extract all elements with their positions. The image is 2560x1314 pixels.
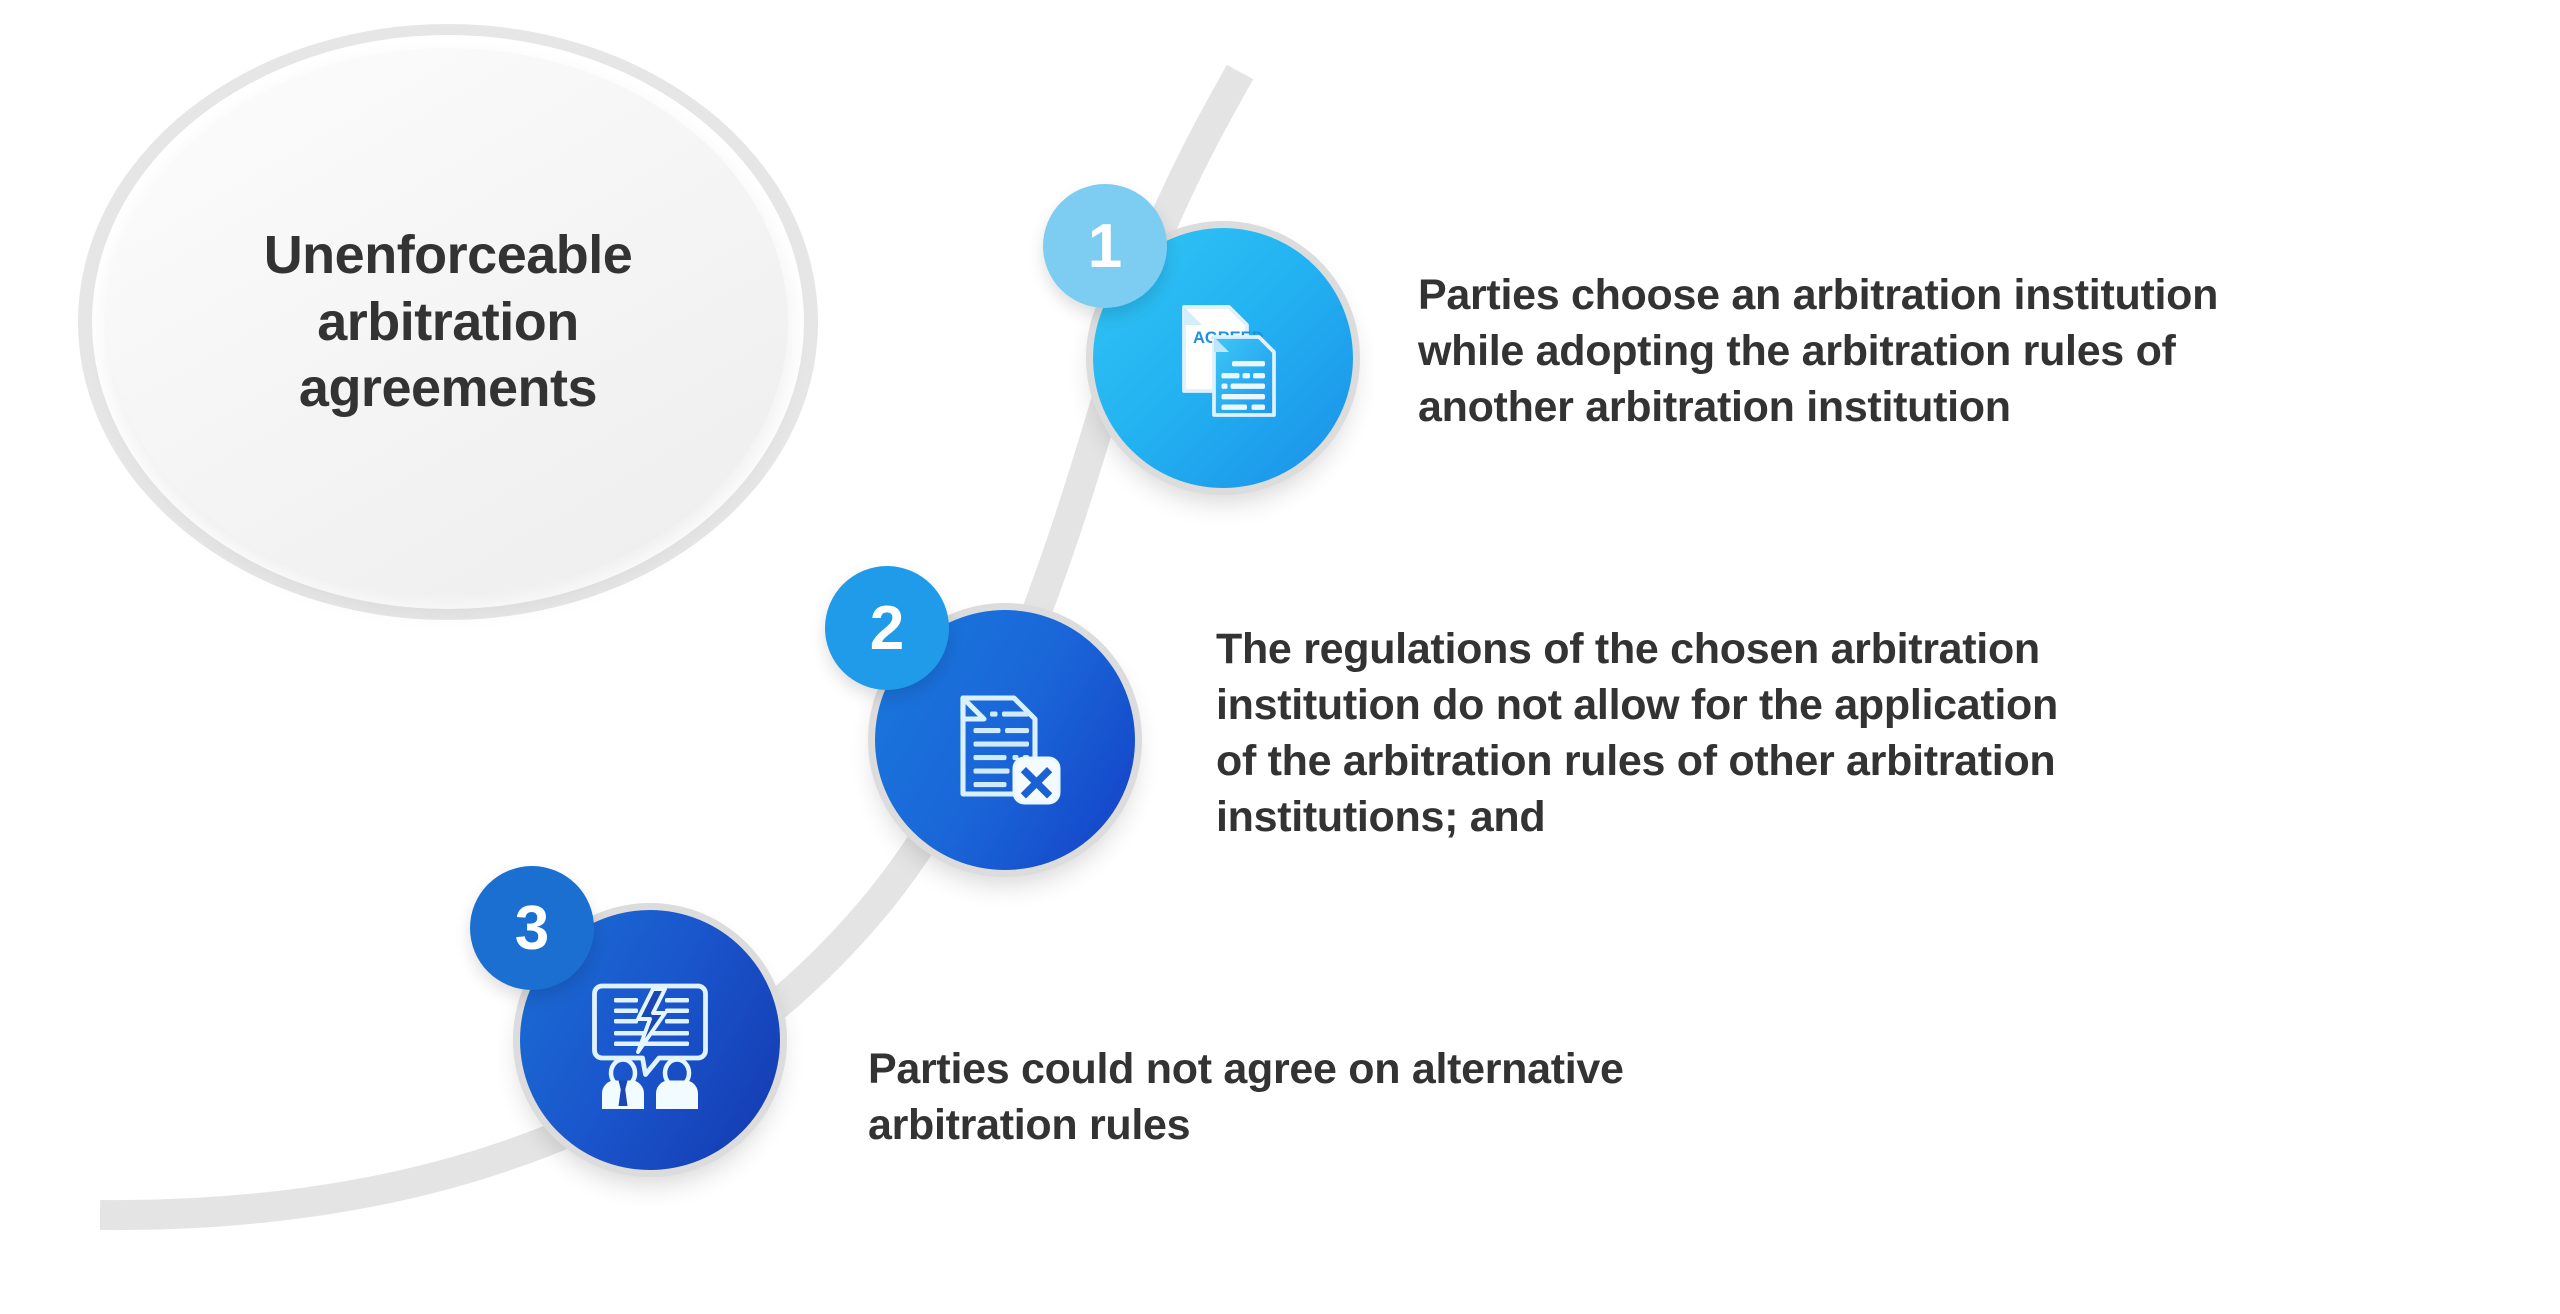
- step-caption-3: Parties could not agree on alternative a…: [868, 1042, 1988, 1154]
- step-badge-2: 2: [825, 566, 949, 690]
- step-caption-2: The regulations of the chosen arbitratio…: [1216, 622, 2446, 846]
- page-title: Unenforceable arbitration agreements: [264, 222, 633, 423]
- agreed-documents-icon: AGREED: [1148, 283, 1298, 433]
- infographic-canvas: Unenforceable arbitration agreements AGR…: [0, 0, 2560, 1314]
- parties-disagreement-icon: [575, 965, 725, 1115]
- document-rejected-icon: [930, 665, 1080, 815]
- step-badge-1: 1: [1043, 184, 1167, 308]
- step-badge-3: 3: [470, 866, 594, 990]
- hero-disc: Unenforceable arbitration agreements: [108, 48, 788, 596]
- step-caption-1: Parties choose an arbitration institutio…: [1418, 268, 2558, 436]
- hero-circle: Unenforceable arbitration agreements: [78, 24, 818, 620]
